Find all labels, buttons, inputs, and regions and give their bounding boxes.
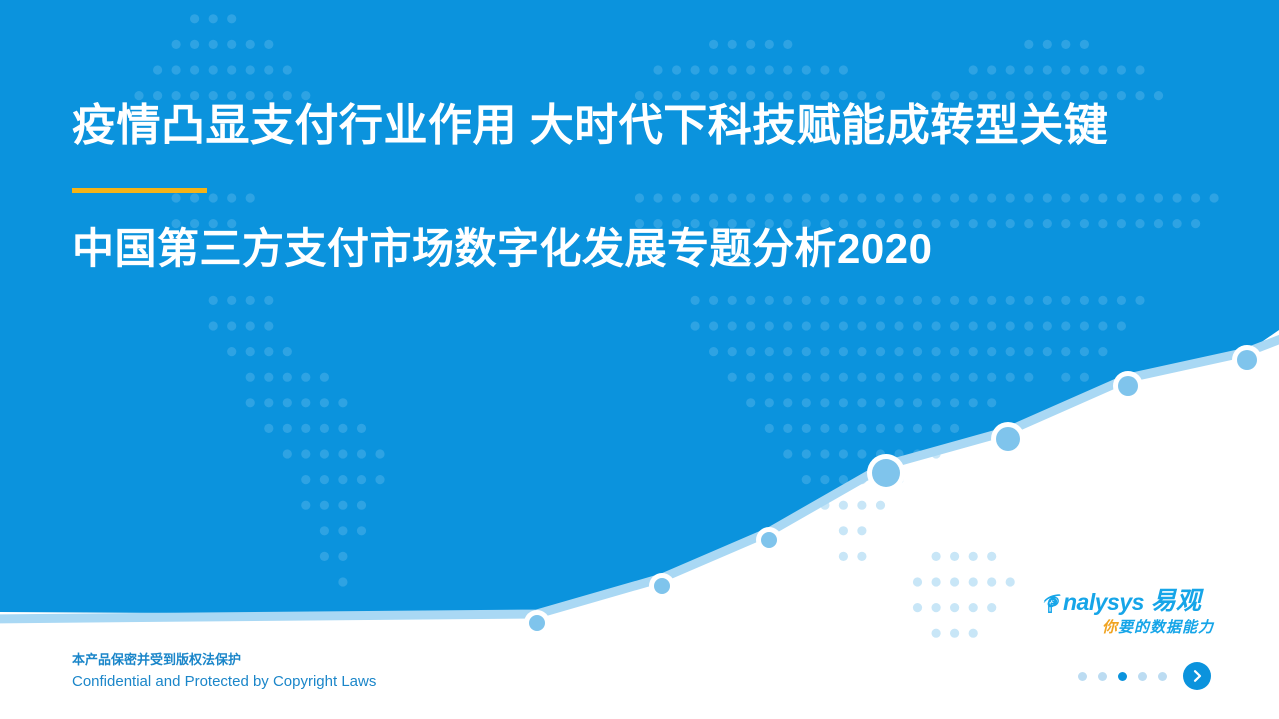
logo-tagline: 你要的数据能力: [1041, 616, 1216, 637]
page-title: 疫情凸显支付行业作用 大时代下科技赋能成转型关键: [72, 96, 1232, 156]
analysys-swoosh-icon: [1041, 593, 1062, 614]
next-slide-button[interactable]: [1183, 662, 1211, 690]
page-subtitle: 中国第三方支付市场数字化发展专题分析2020: [72, 221, 1232, 277]
title-block: 疫情凸显支付行业作用 大时代下科技赋能成转型关键 中国第三方支付市场数字化发展专…: [72, 96, 1232, 277]
copyright-cn: 本产品保密并受到版权法保护: [72, 650, 376, 670]
logo-wordmark-cn: 易观: [1151, 589, 1201, 614]
logo-wordmark: nalysys: [1063, 590, 1144, 614]
copyright-footer: 本产品保密并受到版权法保护 Confidential and Protected…: [72, 650, 376, 693]
copyright-en: Confidential and Protected by Copyright …: [72, 670, 376, 693]
title-divider: [72, 188, 207, 193]
chevron-right-icon: [1190, 669, 1204, 683]
pager-dot-3[interactable]: [1118, 672, 1127, 681]
analysys-logo: nalysys 易观 你要的数据能力: [1041, 586, 1216, 638]
pager-dot-5[interactable]: [1158, 672, 1167, 681]
cover-slide: 疫情凸显支付行业作用 大时代下科技赋能成转型关键 中国第三方支付市场数字化发展专…: [0, 0, 1279, 719]
logo-wordmark-row: nalysys 易观: [1041, 586, 1216, 614]
pager-dot-2[interactable]: [1098, 672, 1107, 681]
pager-dot-1[interactable]: [1078, 672, 1087, 681]
logo-tagline-accent: 你: [1102, 619, 1118, 636]
pagination[interactable]: [1078, 662, 1211, 690]
logo-tagline-rest: 要的数据能力: [1118, 619, 1214, 636]
pager-dot-4[interactable]: [1138, 672, 1147, 681]
